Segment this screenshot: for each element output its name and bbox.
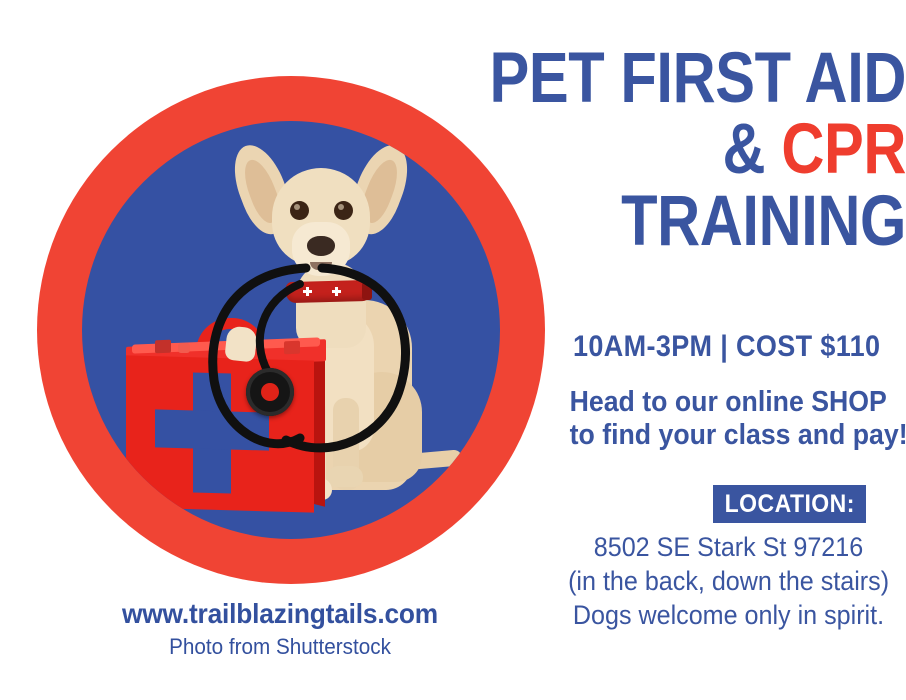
poster-canvas: PET FIRST AID & CPR TRAINING 10AM-3PM | … bbox=[0, 0, 906, 700]
location-badge-label: LOCATION: bbox=[724, 490, 854, 519]
time-and-cost: 10AM-3PM | COST $110 bbox=[573, 330, 879, 364]
poster-title: PET FIRST AID & CPR TRAINING bbox=[370, 46, 906, 254]
title-cpr: CPR bbox=[781, 110, 906, 189]
address-line-3: Dogs welcome only in spirit. bbox=[568, 598, 889, 632]
shop-line-1: Head to our online SHOP bbox=[570, 386, 883, 419]
stethoscope-chestpiece-icon bbox=[246, 368, 294, 416]
photo-credit: Photo from Shutterstock bbox=[73, 634, 487, 660]
title-line-3: TRAINING bbox=[456, 189, 906, 254]
footer-block: www.trailblazingtails.com Photo from Shu… bbox=[60, 598, 500, 660]
shop-line-2: to find your class and pay! bbox=[570, 419, 883, 452]
text-column: PET FIRST AID & CPR TRAINING 10AM-3PM | … bbox=[556, 0, 906, 700]
shop-callout: Head to our online SHOP to find your cla… bbox=[570, 386, 883, 452]
title-line-2: & CPR bbox=[456, 117, 906, 182]
address-line-1: 8502 SE Stark St 97216 bbox=[568, 530, 889, 564]
location-badge: LOCATION: bbox=[713, 485, 866, 523]
address-line-2: (in the back, down the stairs) bbox=[568, 564, 889, 598]
title-ampersand: & bbox=[723, 110, 782, 189]
website-url[interactable]: www.trailblazingtails.com bbox=[73, 598, 487, 630]
title-line-1: PET FIRST AID bbox=[456, 46, 906, 111]
address-block: 8502 SE Stark St 97216 (in the back, dow… bbox=[568, 530, 889, 632]
